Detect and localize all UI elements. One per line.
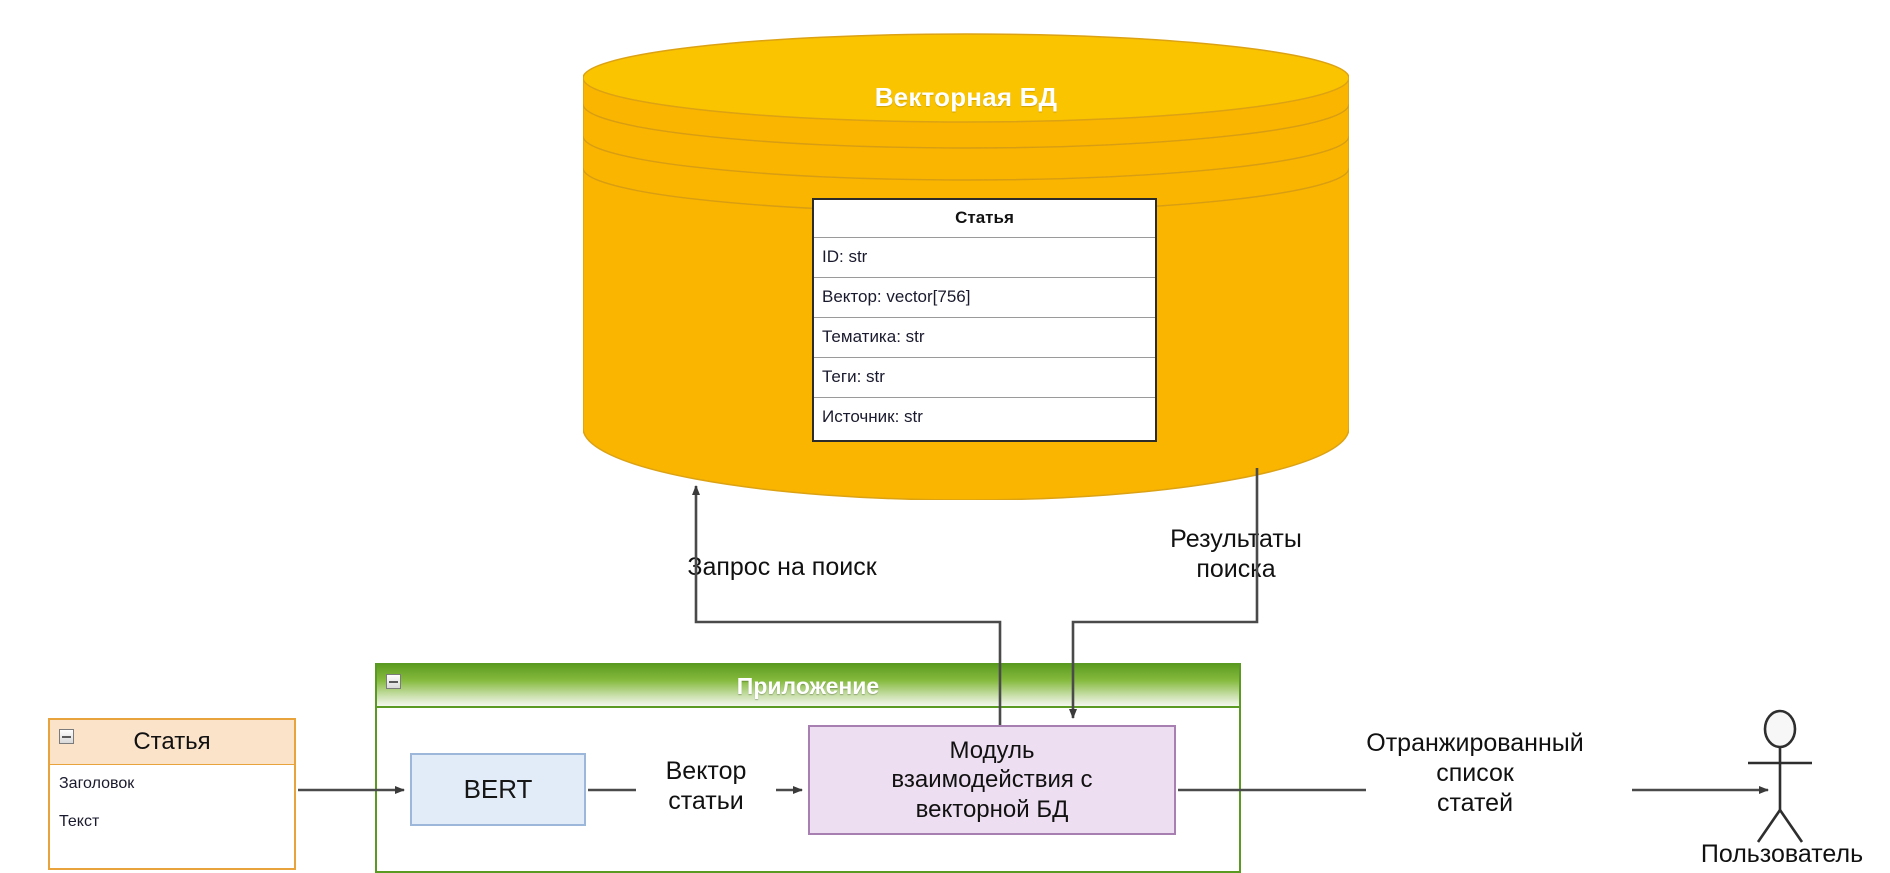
vector-db-interaction-module[interactable]: Модуль взаимодействия с векторной БД xyxy=(808,725,1176,835)
entity-field-source: Источник: str xyxy=(814,398,1155,440)
diagram-canvas: Векторная БД Статья ID: str Вектор: vect… xyxy=(0,0,1890,873)
input-article-field-title: Заголовок xyxy=(50,765,294,803)
edge-label-ranked-list: Отранжированный список статей xyxy=(1330,728,1620,818)
input-article-header: Статья xyxy=(50,720,294,765)
entity-header: Статья xyxy=(814,200,1155,238)
module-label: Модуль взаимодействия с векторной БД xyxy=(891,736,1092,824)
entity-field-vector: Вектор: vector[756] xyxy=(814,278,1155,318)
actor-label: Пользователь xyxy=(1672,840,1890,869)
input-article-title: Статья xyxy=(50,728,294,756)
edge-label-search-results: Результаты поиска xyxy=(1146,524,1326,584)
input-article-field-text: Текст xyxy=(50,803,294,841)
article-entity-table[interactable]: Статья ID: str Вектор: vector[756] Темат… xyxy=(812,198,1157,442)
application-header: Приложение xyxy=(377,665,1239,708)
entity-field-id: ID: str xyxy=(814,238,1155,278)
edge-label-search-query: Запрос на поиск xyxy=(657,552,907,582)
entity-field-tags: Теги: str xyxy=(814,358,1155,398)
application-title: Приложение xyxy=(377,673,1239,700)
bert-component[interactable]: BERT xyxy=(410,753,586,826)
input-article-entity[interactable]: Статья Заголовок Текст xyxy=(48,718,296,870)
edge-label-article-vector: Вектор статьи xyxy=(640,756,772,816)
entity-field-topic: Тематика: str xyxy=(814,318,1155,358)
stick-figure-actor-icon xyxy=(1748,711,1812,842)
